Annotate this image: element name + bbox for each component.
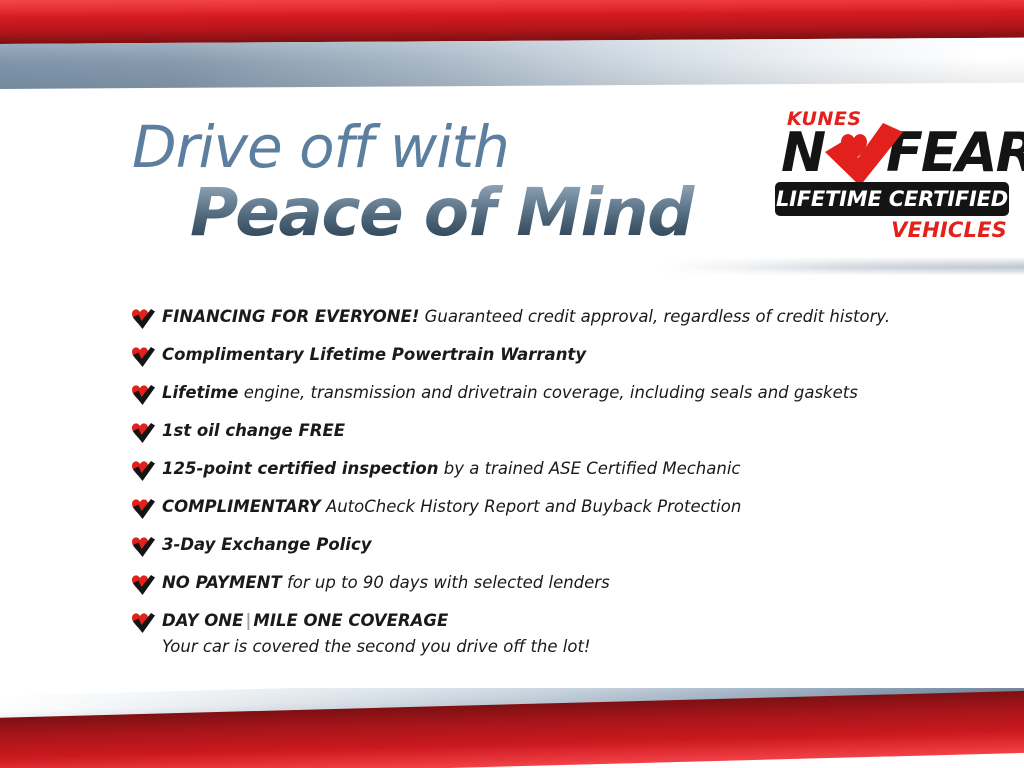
heart-check-icon — [130, 497, 156, 521]
list-item: DAY ONE|MILE ONE COVERAGE Your car is co… — [130, 610, 950, 658]
list-item-subtext: Your car is covered the second you drive… — [162, 636, 950, 658]
kunes-no-fear-logo: KUNES N FEAR LIFETIME CERTIFIED VEHICLES — [775, 108, 1013, 248]
logo-no-fear-wordmark: N FEAR — [781, 126, 1013, 182]
list-item: 125-point certified inspection by a trai… — [130, 458, 950, 483]
list-item-strong: 3-Day Exchange Policy — [162, 535, 372, 554]
list-item-strong: Lifetime — [162, 383, 238, 402]
list-item-strong: 125-point certified inspection — [162, 459, 439, 478]
list-item-separator: | — [243, 611, 253, 630]
list-item-strong: FINANCING FOR EVERYONE! — [162, 307, 419, 326]
heart-check-icon — [130, 307, 156, 331]
heart-check-icon — [130, 383, 156, 407]
list-item-text: DAY ONE|MILE ONE COVERAGE — [162, 610, 448, 631]
list-item: Complimentary Lifetime Powertrain Warran… — [130, 344, 950, 369]
list-item: FINANCING FOR EVERYONE! Guaranteed credi… — [130, 306, 950, 331]
list-item-strong: COMPLIMENTARY — [162, 497, 321, 516]
heart-check-icon — [130, 459, 156, 483]
list-item-strong: DAY ONE — [162, 611, 243, 630]
list-item-text: NO PAYMENT for up to 90 days with select… — [162, 572, 610, 593]
list-item-strong-2: MILE ONE COVERAGE — [253, 611, 448, 630]
heart-check-icon — [130, 573, 156, 597]
list-item: 1st oil change FREE — [130, 420, 950, 445]
bottom-banner — [0, 688, 1024, 768]
benefits-list: FINANCING FOR EVERYONE! Guaranteed credi… — [130, 306, 950, 658]
headline-line-2: Peace of Mind — [190, 176, 752, 250]
logo-lifetime-certified-bar: LIFETIME CERTIFIED — [775, 182, 1009, 216]
list-item-text: 125-point certified inspection by a trai… — [162, 458, 740, 479]
list-item-text: 1st oil change FREE — [162, 420, 345, 441]
list-item-text: 3-Day Exchange Policy — [162, 534, 372, 555]
list-item: Lifetime engine, transmission and drivet… — [130, 382, 950, 407]
logo-word-fear: FEAR — [886, 126, 1024, 180]
heart-check-icon — [130, 421, 156, 445]
heart-check-icon — [130, 611, 156, 635]
header-divider — [660, 258, 1024, 275]
list-item: 3-Day Exchange Policy — [130, 534, 950, 559]
logo-vehicles-label: VEHICLES — [891, 218, 1007, 242]
heart-check-icon — [130, 345, 156, 369]
top-red-gloss — [0, 0, 1024, 18]
list-item-text: Complimentary Lifetime Powertrain Warran… — [162, 344, 586, 365]
list-item: COMPLIMENTARY AutoCheck History Report a… — [130, 496, 950, 521]
top-banner — [0, 0, 1024, 92]
list-item-main: DAY ONE|MILE ONE COVERAGE — [130, 610, 950, 635]
list-item-rest: engine, transmission and drivetrain cove… — [238, 383, 857, 402]
logo-bar-label: LIFETIME CERTIFIED — [776, 187, 1008, 211]
top-gray-shade — [0, 38, 1024, 89]
headline-block: Drive off with Peace of Mind — [132, 118, 752, 250]
list-item-text: FINANCING FOR EVERYONE! Guaranteed credi… — [162, 306, 890, 327]
list-item: NO PAYMENT for up to 90 days with select… — [130, 572, 950, 597]
list-item-rest: Guaranteed credit approval, regardless o… — [419, 307, 890, 326]
list-item-strong: 1st oil change FREE — [162, 421, 345, 440]
list-item-strong: NO PAYMENT — [162, 573, 282, 592]
list-item-text: Lifetime engine, transmission and drivet… — [162, 382, 858, 403]
list-item-text: COMPLIMENTARY AutoCheck History Report a… — [162, 496, 741, 517]
heart-check-logo-icon — [817, 122, 905, 188]
bottom-red-gloss — [0, 731, 1024, 768]
top-gray-band — [0, 38, 1024, 89]
list-item-rest: by a trained ASE Certified Mechanic — [439, 459, 741, 478]
headline-line-1: Drive off with — [132, 118, 752, 176]
list-item-rest: for up to 90 days with selected lenders — [282, 573, 610, 592]
list-item-rest: AutoCheck History Report and Buyback Pro… — [321, 497, 742, 516]
top-red-band — [0, 0, 1024, 44]
heart-check-icon — [130, 535, 156, 559]
header-divider-fade — [660, 258, 1024, 275]
list-item-strong: Complimentary Lifetime Powertrain Warran… — [162, 345, 586, 364]
